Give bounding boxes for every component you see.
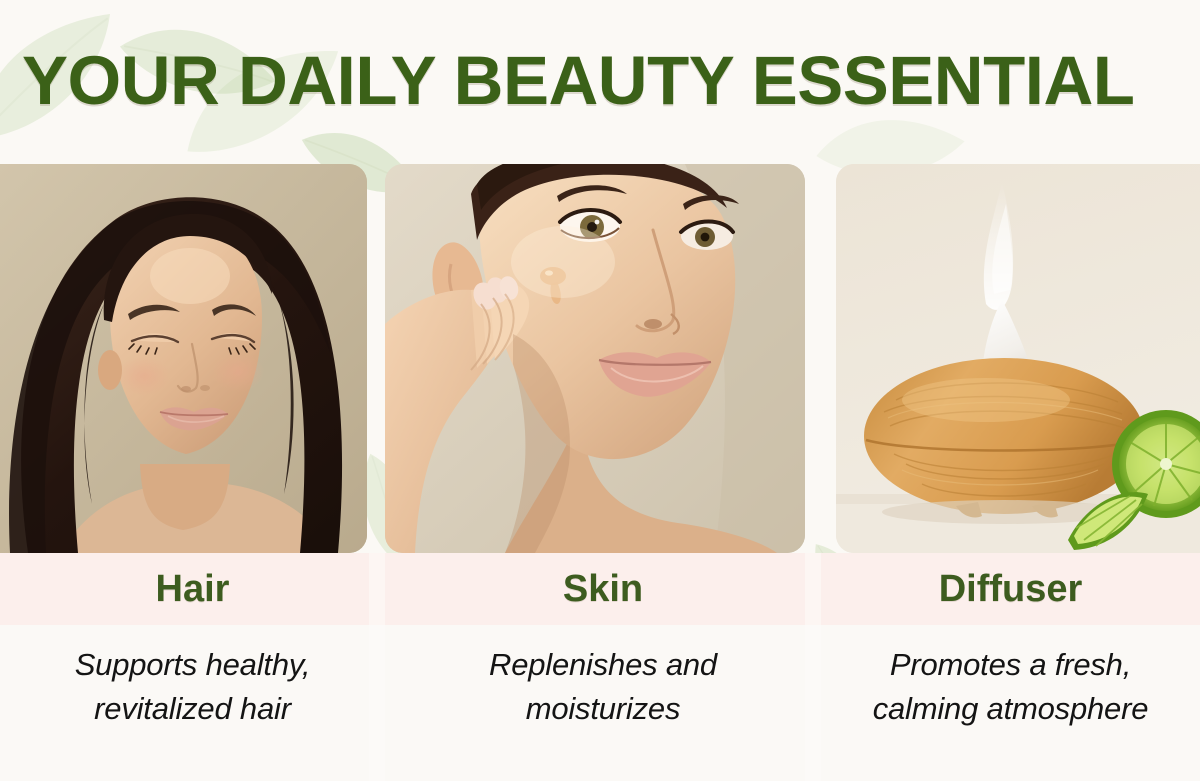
photo-row <box>0 164 1200 553</box>
photo-skin <box>385 164 805 553</box>
photo-hair <box>0 164 367 553</box>
photo-cell-diffuser <box>836 164 1200 553</box>
caption-line-1: Supports healthy, <box>75 647 311 682</box>
label-band: Hair Skin Diffuser <box>0 553 1200 625</box>
caption-cell-diffuser: Promotes a fresh, calming atmosphere <box>821 625 1200 781</box>
card-label-diffuser: Diffuser <box>939 570 1083 608</box>
card-label-hair: Hair <box>156 570 230 608</box>
caption-line-1: Replenishes and <box>489 647 717 682</box>
caption-line-2: calming atmosphere <box>873 691 1149 726</box>
card-caption-diffuser: Promotes a fresh, calming atmosphere <box>873 643 1149 731</box>
poster-title-wrapper: YOUR DAILY BEAUTY ESSENTIAL <box>0 0 1200 160</box>
poster-root: YOUR DAILY BEAUTY ESSENTIAL <box>0 0 1200 781</box>
caption-cell-skin: Replenishes and moisturizes <box>385 625 821 781</box>
card-caption-skin: Replenishes and moisturizes <box>489 643 717 731</box>
photo-cell-hair <box>0 164 367 553</box>
photo-gap <box>367 164 385 553</box>
photo-cell-skin <box>385 164 805 553</box>
label-cell-hair: Hair <box>0 553 385 625</box>
caption-line-2: revitalized hair <box>94 691 291 726</box>
label-cell-skin: Skin <box>385 553 821 625</box>
caption-line-2: moisturizes <box>526 691 681 726</box>
card-caption-hair: Supports healthy, revitalized hair <box>75 643 311 731</box>
page-title: YOUR DAILY BEAUTY ESSENTIAL <box>22 46 1134 115</box>
photo-diffuser <box>836 164 1200 553</box>
column-separator <box>369 553 385 781</box>
photo-gap <box>805 164 836 553</box>
caption-row: Supports healthy, revitalized hair Reple… <box>0 625 1200 781</box>
caption-cell-hair: Supports healthy, revitalized hair <box>0 625 385 781</box>
column-separator <box>805 553 821 781</box>
caption-line-1: Promotes a fresh, <box>890 647 1131 682</box>
label-cell-diffuser: Diffuser <box>821 553 1200 625</box>
card-label-skin: Skin <box>563 570 643 608</box>
